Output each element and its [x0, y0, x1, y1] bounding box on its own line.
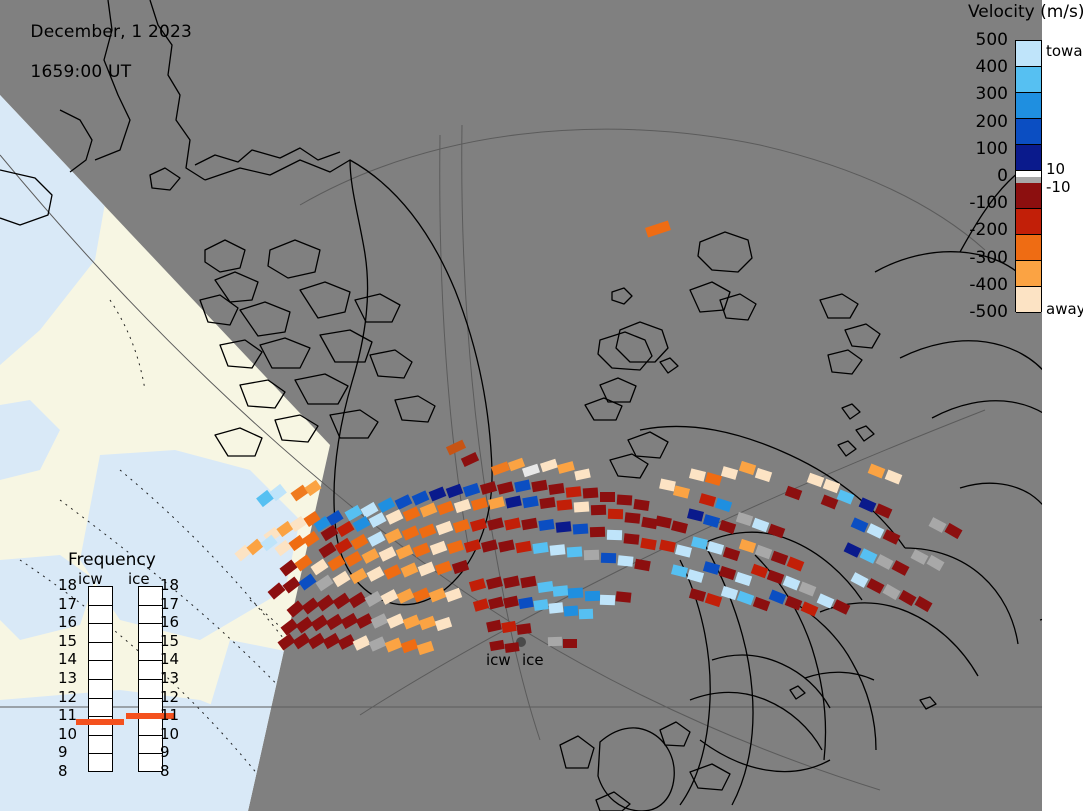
colorbar-inner-low-label: -10 [1046, 178, 1071, 196]
colorbar-away-label: away [1046, 300, 1083, 318]
colorbar-toward-label: toward [1046, 42, 1083, 60]
velocity-cell [705, 472, 722, 486]
colorbar-tick-0: 0 [962, 166, 1008, 186]
frequency-tick-13: 13 [58, 669, 77, 687]
velocity-cell [521, 518, 538, 530]
velocity-cell [497, 481, 514, 494]
velocity-cell [807, 473, 825, 488]
velocity-cell [280, 559, 298, 576]
velocity-cell [345, 505, 363, 521]
velocity-cell [767, 570, 785, 585]
velocity-cell [396, 544, 414, 559]
velocity-cell [641, 517, 658, 529]
velocity-cell [307, 633, 325, 649]
velocity-cell [915, 596, 933, 612]
frequency-tick-15: 15 [160, 632, 179, 650]
colorbar-band--500 [1016, 287, 1041, 313]
velocity-cell [537, 581, 553, 593]
velocity-cell [395, 494, 413, 510]
velocity-cell [607, 530, 622, 541]
velocity-cell [573, 523, 589, 534]
velocity-cell [550, 544, 566, 556]
velocity-cell [768, 524, 786, 539]
velocity-cell [385, 638, 403, 653]
frequency-segment [89, 643, 112, 662]
frequency-tick-8: 8 [160, 762, 170, 780]
colorbar-band--100 [1016, 183, 1041, 209]
velocity-cell [867, 578, 885, 594]
velocity-cell [461, 452, 479, 467]
velocity-cell [787, 557, 805, 572]
frequency-tick-17: 17 [58, 595, 77, 613]
frequency-tick-14: 14 [58, 650, 77, 668]
velocity-cell [833, 599, 851, 615]
velocity-cell [437, 501, 455, 516]
velocity-cell [353, 516, 371, 532]
fan-plot-canvas: Velocity (m/s) 5004003002001000-100-200-… [0, 0, 1083, 811]
velocity-cell [310, 559, 328, 576]
velocity-cell [486, 576, 503, 589]
velocity-cell [435, 617, 452, 631]
colorbar-tick-500: 500 [962, 30, 1008, 50]
frequency-tick-18: 18 [160, 576, 179, 594]
legend-background-panel [1042, 0, 1083, 811]
velocity-cell [418, 562, 436, 577]
colorbar-inner-high-label: 10 [1046, 160, 1065, 178]
velocity-cell [721, 466, 738, 480]
velocity-cell [566, 486, 582, 498]
velocity-cell [538, 519, 554, 531]
colorbar-band-500 [1016, 41, 1041, 67]
velocity-cell [325, 614, 343, 630]
velocity-cell [473, 598, 489, 611]
colorbar-band-300 [1016, 93, 1041, 119]
velocity-cell [480, 481, 497, 495]
velocity-cell [703, 561, 720, 575]
velocity-cell [655, 516, 672, 529]
frequency-segment [89, 699, 112, 718]
velocity-cell [520, 576, 537, 588]
velocity-cell [435, 561, 453, 576]
colorbar-tick--100: -100 [962, 193, 1008, 213]
velocity-cell [583, 487, 599, 498]
velocity-cell [590, 527, 605, 538]
velocity-cell [501, 621, 517, 633]
velocity-cell [600, 595, 615, 606]
velocity-cell [771, 551, 789, 566]
frequency-segment [89, 606, 112, 625]
velocity-cell [463, 483, 480, 497]
velocity-cell [353, 635, 371, 651]
velocity-cell [504, 518, 521, 531]
velocity-cell [489, 640, 504, 651]
velocity-cell [860, 548, 878, 564]
velocity-cell [488, 496, 505, 509]
velocity-cell [302, 597, 320, 614]
velocity-cell [634, 559, 651, 571]
velocity-cell [608, 509, 623, 520]
velocity-cell [600, 492, 615, 502]
velocity-cell [362, 548, 380, 564]
velocity-cell [413, 543, 431, 558]
velocity-cell [851, 572, 869, 588]
velocity-cell [574, 469, 591, 481]
frequency-segment [139, 717, 162, 736]
velocity-cell [516, 623, 531, 635]
velocity-cell [379, 546, 397, 562]
velocity-cell [387, 613, 405, 628]
velocity-cell [837, 490, 855, 505]
frequency-tick-8: 8 [58, 762, 68, 780]
velocity-cell [556, 521, 572, 533]
velocity-cell [522, 496, 539, 508]
frequency-segment [139, 736, 162, 755]
velocity-cell [675, 544, 692, 557]
velocity-cell [785, 596, 803, 611]
velocity-cell [378, 497, 396, 513]
timestamp-block: December, 1 2023 1659:00 UT [8, 2, 192, 102]
velocity-cell [769, 590, 787, 605]
velocity-cell [417, 641, 434, 655]
velocity-cell [491, 461, 510, 475]
velocity-cell [705, 593, 722, 607]
velocity-cell [447, 540, 464, 554]
colorbar-tick--300: -300 [962, 248, 1008, 268]
frequency-marker-icw [76, 719, 124, 725]
velocity-cell [381, 589, 399, 605]
velocity-cell [539, 497, 555, 509]
velocity-cell [823, 479, 841, 494]
velocity-cell [851, 517, 869, 532]
frequency-tick-18: 18 [58, 576, 77, 594]
velocity-cell [327, 555, 345, 571]
frequency-segment [89, 736, 112, 755]
velocity-cell [703, 514, 720, 528]
velocity-cell [689, 468, 706, 481]
velocity-cell [885, 470, 903, 485]
velocity-cell [591, 505, 606, 516]
colorbar-band--200 [1016, 209, 1041, 235]
velocity-cell [318, 542, 336, 559]
velocity-cell [671, 564, 688, 577]
velocity-cell [454, 499, 471, 513]
velocity-cell [736, 512, 753, 526]
frequency-segment [89, 680, 112, 699]
velocity-cell [287, 600, 305, 617]
frequency-tick-9: 9 [58, 743, 68, 761]
frequency-segment [139, 754, 162, 773]
velocity-cell [488, 596, 504, 609]
velocity-cell [470, 518, 487, 532]
velocity-cell [579, 609, 593, 619]
velocity-cell [715, 498, 732, 512]
velocity-cell [567, 546, 583, 557]
velocity-cell [735, 572, 752, 586]
velocity-cell [687, 508, 704, 521]
frequency-tick-14: 14 [160, 650, 179, 668]
velocity-cell [356, 613, 374, 629]
velocity-cell [486, 620, 502, 633]
colorbar-title: Velocity (m/s) [968, 2, 1083, 22]
colorbar-band--400 [1016, 261, 1041, 287]
velocity-cell [446, 484, 464, 499]
velocity-cell [302, 531, 319, 547]
velocity-cell [752, 518, 770, 533]
velocity-cell [899, 590, 917, 606]
velocity-cell [336, 521, 354, 537]
timestamp-date: December, 1 2023 [30, 22, 192, 42]
velocity-cell [618, 555, 634, 567]
velocity-cell [671, 520, 688, 533]
velocity-cell [659, 479, 676, 492]
frequency-bar-icw[interactable] [88, 586, 113, 772]
velocity-cell [429, 588, 447, 603]
frequency-legend-title: Frequency [68, 550, 156, 570]
velocity-cell [721, 586, 738, 600]
frequency-segment [139, 624, 162, 643]
velocity-cell [568, 587, 584, 598]
velocity-cell [929, 517, 947, 533]
velocity-cell [883, 529, 901, 545]
colorbar-band-400 [1016, 67, 1041, 93]
velocity-cell [295, 617, 313, 634]
velocity-cell [868, 464, 886, 479]
velocity-cell [549, 602, 564, 613]
frequency-tick-9: 9 [160, 743, 170, 761]
velocity-cell [371, 613, 389, 629]
velocity-cell [515, 541, 532, 553]
velocity-cell [737, 591, 755, 606]
velocity-cell [553, 585, 569, 597]
timestamp-time: 1659:00 UT [30, 62, 131, 82]
velocity-cell [739, 461, 756, 475]
velocity-cell [945, 523, 963, 539]
velocity-cell [707, 541, 724, 555]
velocity-cell [645, 221, 671, 238]
velocity-cell [625, 512, 641, 524]
velocity-cell [531, 480, 548, 492]
frequency-segment [139, 587, 162, 606]
velocity-cell [633, 499, 649, 511]
velocity-cell [624, 533, 640, 545]
velocity-cell [403, 506, 421, 521]
velocity-cell [436, 521, 454, 536]
velocity-cell [821, 495, 839, 510]
velocity-cell [332, 593, 350, 610]
velocity-cell [799, 582, 817, 597]
velocity-cell [616, 591, 632, 603]
velocity-cell [867, 523, 885, 539]
velocity-cell [783, 576, 801, 591]
frequency-segment [89, 661, 112, 680]
velocity-cell [294, 555, 312, 572]
colorbar-band--300 [1016, 235, 1041, 261]
velocity-cell [453, 519, 470, 533]
velocity-cell [412, 490, 430, 505]
velocity-cell [892, 560, 910, 576]
velocity-cell [310, 615, 328, 632]
frequency-tick-15: 15 [58, 632, 77, 650]
map-label-ice: ice [522, 651, 544, 669]
frequency-tick-10: 10 [58, 725, 77, 743]
velocity-cell [367, 566, 385, 582]
map-label-icw: icw [486, 651, 511, 669]
velocity-cell [350, 568, 368, 584]
velocity-cell [844, 542, 862, 558]
velocity-cell [277, 634, 295, 651]
velocity-cell [927, 555, 945, 571]
colorbar-tick--400: -400 [962, 275, 1008, 295]
velocity-cell [751, 564, 769, 579]
velocity-cell [699, 493, 716, 507]
velocity-cell [659, 540, 676, 553]
frequency-tick-16: 16 [58, 613, 77, 631]
frequency-segment [139, 661, 162, 680]
velocity-cell [429, 487, 447, 502]
velocity-cell [471, 497, 488, 511]
velocity-cell [402, 525, 420, 540]
velocity-cell [452, 560, 469, 574]
velocity-cell [557, 499, 573, 511]
velocity-cell [617, 494, 633, 505]
colorbar-tick-400: 400 [962, 57, 1008, 77]
velocity-cell [673, 485, 690, 498]
velocity-cell [281, 618, 299, 635]
velocity-cell [723, 547, 740, 561]
velocity-cell [584, 550, 599, 561]
velocity-cell [911, 549, 929, 565]
velocity-cell [369, 636, 387, 651]
frequency-tick-12: 12 [160, 688, 179, 706]
velocity-cell [348, 592, 366, 608]
colorbar-band-100 [1016, 145, 1041, 171]
velocity-cell [351, 534, 369, 550]
velocity-cell [365, 591, 383, 607]
velocity-cell [288, 535, 305, 551]
velocity-cell [548, 483, 564, 495]
velocity-cell [385, 528, 403, 544]
velocity-cell [687, 569, 704, 583]
velocity-cell [419, 616, 437, 631]
velocity-cell [446, 440, 466, 456]
velocity-cell [397, 588, 415, 604]
velocity-cell [386, 509, 404, 525]
velocity-cell [487, 517, 504, 530]
frequency-tick-16: 16 [160, 613, 179, 631]
velocity-cell [755, 468, 772, 482]
frequency-tick-10: 10 [160, 725, 179, 743]
velocity-cell [640, 538, 657, 550]
velocity-cell [481, 539, 498, 552]
velocity-cell [859, 497, 877, 512]
velocity-cell [430, 541, 448, 556]
velocity-cell [601, 553, 616, 564]
velocity-cell [469, 578, 486, 592]
velocity-cell [345, 551, 363, 567]
velocity-cell [332, 571, 350, 587]
velocity-cell [505, 496, 522, 509]
frequency-segment [89, 624, 112, 643]
velocity-cell [334, 538, 352, 554]
velocity-cell [817, 593, 835, 608]
colorbar-tick-100: 100 [962, 139, 1008, 159]
velocity-cell [739, 539, 756, 553]
velocity-cell [401, 639, 419, 654]
velocity-cell [403, 615, 421, 630]
velocity-cell [368, 531, 386, 547]
velocity-cell [691, 536, 708, 549]
velocity-cell [464, 539, 481, 553]
frequency-tick-17: 17 [160, 595, 179, 613]
frequency-tick-13: 13 [160, 669, 179, 687]
velocity-cell [315, 575, 333, 592]
frequency-tick-11: 11 [58, 706, 77, 724]
velocity-cell [413, 587, 431, 602]
velocity-cell [533, 599, 548, 611]
frequency-segment [139, 643, 162, 662]
colorbar-tick-200: 200 [962, 112, 1008, 132]
frequency-segment [139, 680, 162, 699]
velocity-cell [419, 524, 437, 539]
velocity-cell [755, 545, 773, 560]
frequency-tick-12: 12 [58, 688, 77, 706]
velocity-cell [298, 574, 316, 591]
velocity-cell [785, 486, 803, 501]
velocity-cell [316, 595, 334, 612]
velocity-cell [283, 576, 301, 593]
velocity-cell [401, 562, 419, 577]
velocity-cell [384, 564, 402, 580]
velocity-cell [540, 459, 558, 473]
velocity-cell [532, 542, 548, 554]
velocity-cell [753, 597, 771, 612]
velocity-cell [564, 606, 579, 617]
velocity-cell [719, 566, 736, 580]
velocity-cell [585, 591, 600, 602]
velocity-cell [445, 588, 463, 603]
velocity-cell [875, 503, 893, 518]
velocity-cell [801, 601, 819, 616]
frequency-segment [89, 587, 112, 606]
velocity-cell [883, 584, 901, 600]
frequency-segment [139, 606, 162, 625]
velocity-cell [503, 576, 520, 589]
velocity-cell [574, 501, 590, 512]
velocity-cell [420, 503, 438, 518]
frequency-segment [89, 754, 112, 773]
colorbar-tick--500: -500 [962, 302, 1008, 322]
velocity-cell [876, 554, 894, 570]
velocity-cell [498, 540, 515, 553]
velocity-cell [689, 588, 706, 602]
velocity-cell [557, 461, 575, 474]
colorbar-band-200 [1016, 119, 1041, 145]
velocity-cell [548, 637, 562, 646]
velocity-colorbar[interactable] [1015, 40, 1042, 312]
velocity-cell [514, 480, 531, 493]
colorbar-tick--200: -200 [962, 220, 1008, 240]
velocity-cell [503, 596, 519, 609]
velocity-cell [341, 613, 359, 629]
velocity-cell [563, 639, 577, 648]
velocity-cell [268, 582, 286, 599]
velocity-cell [518, 597, 534, 609]
colorbar-tick-300: 300 [962, 84, 1008, 104]
velocity-cell [719, 520, 736, 534]
frequency-tick-11: 11 [160, 706, 179, 724]
